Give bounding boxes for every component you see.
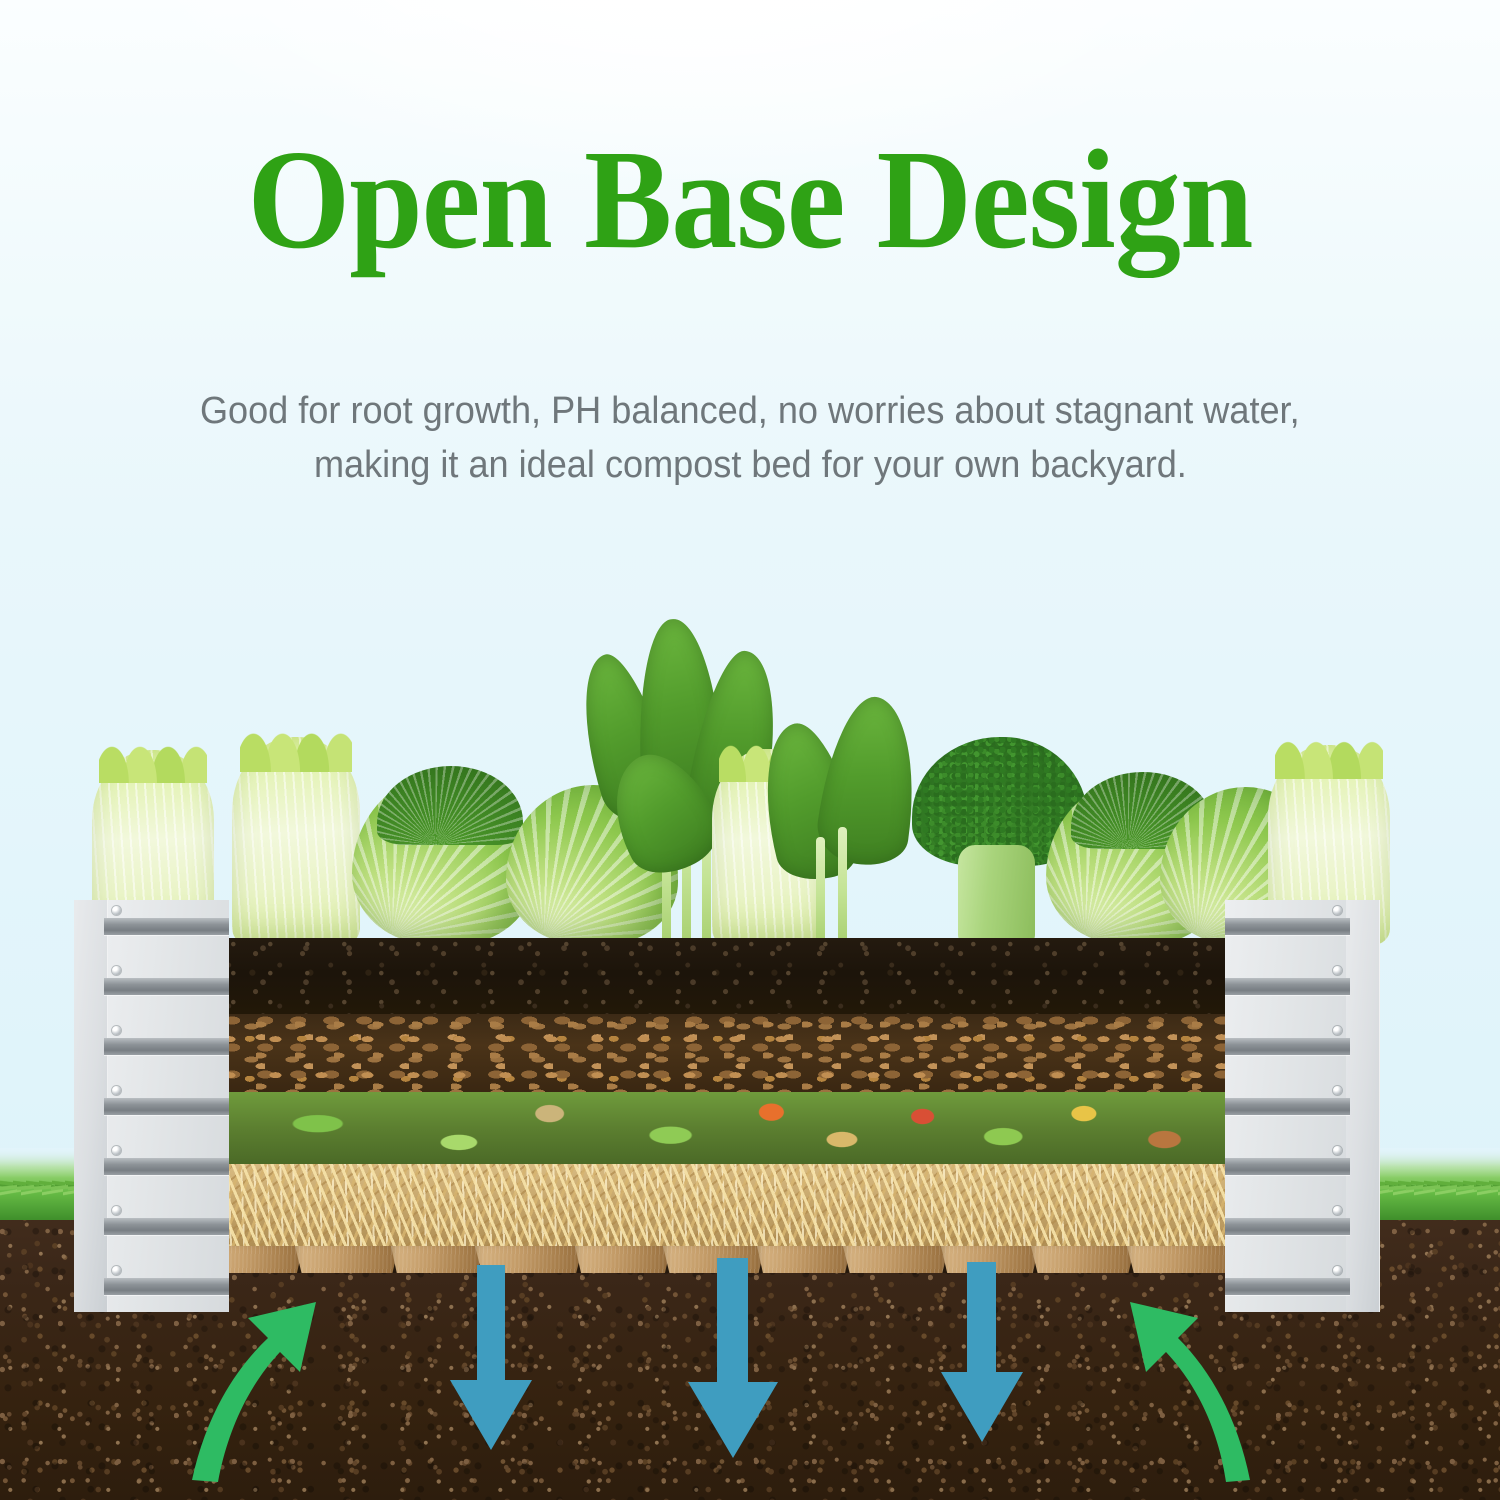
savoy-outer-leaf bbox=[377, 766, 523, 845]
grass-top-fade bbox=[0, 1148, 132, 1178]
napa-cabbage-2 bbox=[232, 737, 360, 945]
subheadline-line-1: Good for root growth, PH balanced, no wo… bbox=[200, 385, 1300, 439]
headline-container: Open Base Design bbox=[0, 128, 1500, 270]
ground-soil bbox=[0, 1180, 1500, 1500]
vegetable-row bbox=[0, 600, 1500, 945]
grass-top-fade bbox=[1372, 1148, 1500, 1178]
grass-strip-right bbox=[1372, 1148, 1500, 1220]
bok-choy-leaf bbox=[813, 691, 927, 870]
subheadline-container: Good for root growth, PH balanced, no wo… bbox=[0, 385, 1500, 493]
subheadline-line-2: making it an ideal compost bed for your … bbox=[314, 439, 1187, 493]
page-title: Open Base Design bbox=[53, 128, 1448, 270]
bok-choy-stem bbox=[838, 827, 847, 945]
savoy-cabbage-1 bbox=[352, 773, 534, 945]
bok-choy-stem bbox=[816, 837, 825, 945]
grass-strip-left bbox=[0, 1148, 132, 1220]
broccoli-stalk bbox=[958, 845, 1035, 945]
napa-cabbage-3 bbox=[1268, 745, 1390, 945]
bok-choy-leaves bbox=[760, 695, 930, 945]
product-feature-graphic: Open Base Design Good for root growth, P… bbox=[0, 0, 1500, 1500]
napa-cabbage-1 bbox=[92, 750, 214, 945]
